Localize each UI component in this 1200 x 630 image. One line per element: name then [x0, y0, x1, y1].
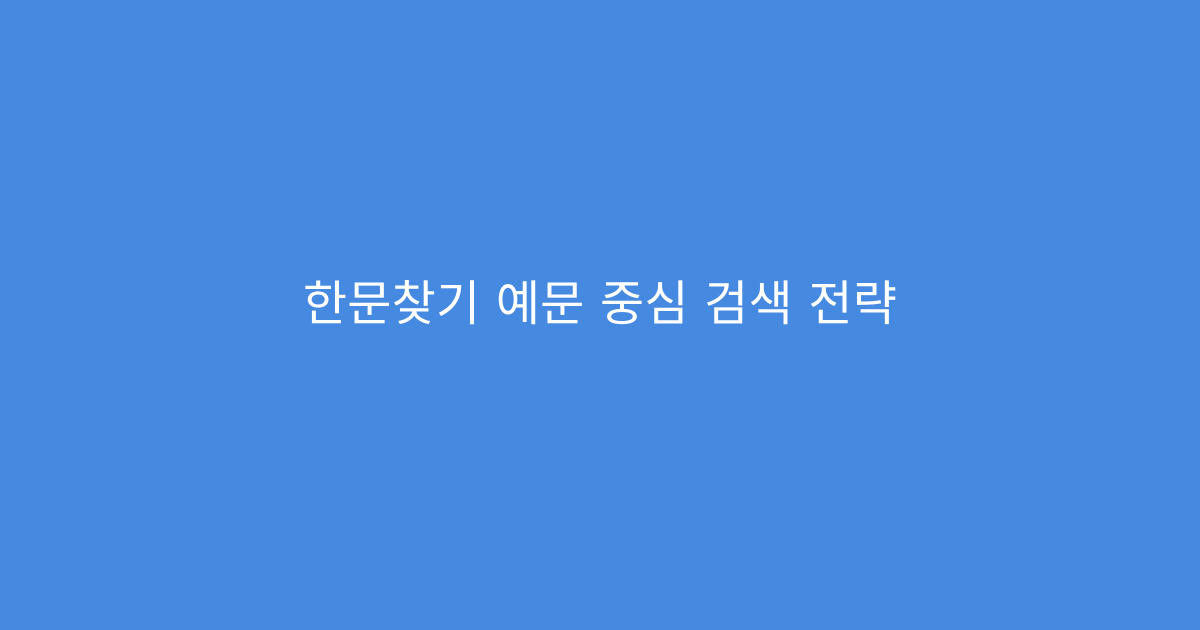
og-preview-card: 한문찾기 예문 중심 검색 전략 — [0, 0, 1200, 630]
page-title: 한문찾기 예문 중심 검색 전략 — [60, 273, 1140, 336]
